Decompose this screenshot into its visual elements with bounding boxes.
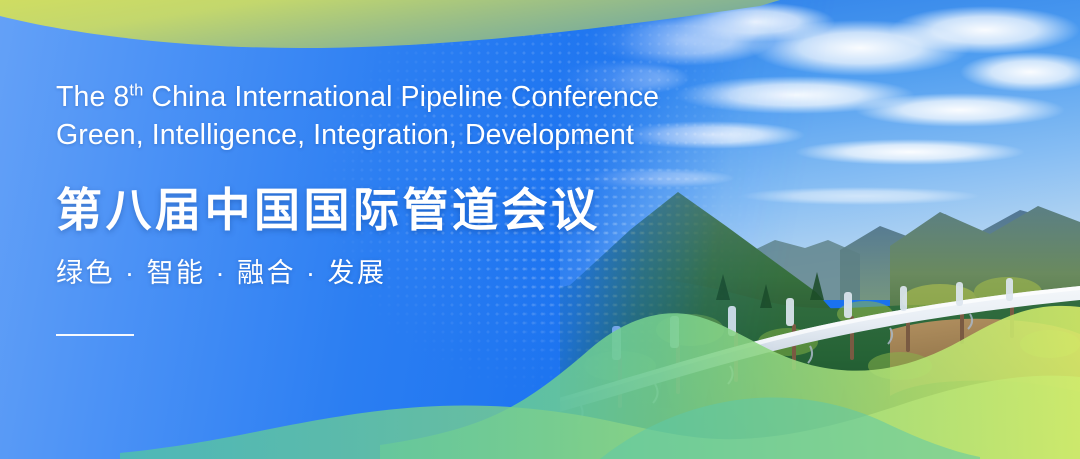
top-green-swoosh xyxy=(0,0,780,80)
chinese-subtitle: 绿色 · 智能 · 融合 · 发展 xyxy=(56,260,659,287)
english-title-line-1: The 8th China International Pipeline Con… xyxy=(56,78,659,116)
english-title-line-2: Green, Intelligence, Integration, Develo… xyxy=(56,116,659,154)
ordinal-suffix: th xyxy=(129,81,143,100)
english-title-suffix: China International Pipeline Conference xyxy=(143,81,659,113)
english-title-prefix: The 8 xyxy=(56,81,129,113)
chinese-title: 第八届中国国际管道会议 xyxy=(56,187,659,233)
banner-text-block: The 8th China International Pipeline Con… xyxy=(56,78,659,336)
conference-banner: The 8th China International Pipeline Con… xyxy=(0,0,1080,459)
decorative-divider-rule xyxy=(56,334,134,336)
